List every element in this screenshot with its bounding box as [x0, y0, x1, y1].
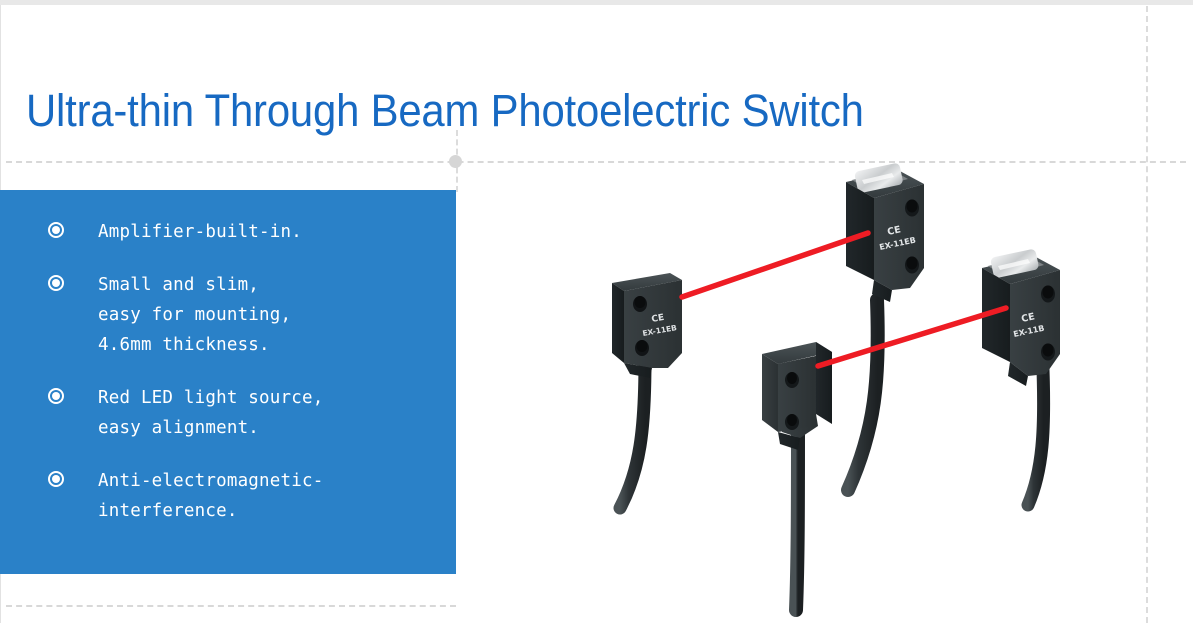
beam-line-upper: [682, 233, 868, 297]
page-title: Ultra-thin Through Beam Photoelectric Sw…: [26, 82, 864, 140]
laser-beams: [682, 233, 1006, 366]
list-item-label: Small and slim, easy for mounting, 4.6mm…: [98, 270, 448, 360]
slide-top-band: [0, 0, 1193, 5]
sensor-receiver-right: CE EX-11B: [982, 248, 1060, 386]
sensor-emitter-left: CE EX-11EB: [612, 273, 682, 378]
list-item-label: Anti-electromagnetic- interference.: [98, 466, 448, 526]
list-item: Anti-electromagnetic- interference.: [48, 466, 448, 526]
list-item: Red LED light source, easy alignment.: [48, 383, 448, 443]
ring-dot-bullet-icon: [48, 471, 64, 487]
list-item: Amplifier-built-in.: [48, 217, 448, 247]
ring-dot-bullet-icon: [48, 388, 64, 404]
product-photo: CE EX-11EB: [500, 140, 1160, 623]
sensor-receiver-top: CE EX-11EB: [846, 162, 924, 302]
list-item-label: Red LED light source, easy alignment.: [98, 383, 448, 443]
ring-dot-bullet-icon: [48, 222, 64, 238]
beam-line-lower: [818, 308, 1006, 366]
list-item: Small and slim, easy for mounting, 4.6mm…: [48, 270, 448, 360]
guide-line-horizontal-bottom: [6, 605, 456, 607]
list-item-label: Amplifier-built-in.: [98, 217, 448, 247]
slide-canvas: Ultra-thin Through Beam Photoelectric Sw…: [0, 0, 1193, 623]
sensor-cables: [620, 300, 1044, 610]
sensor-emitter-center: [762, 342, 832, 450]
ring-dot-bullet-icon: [48, 275, 64, 291]
feature-bullet-list: Amplifier-built-in. Small and slim, easy…: [48, 217, 448, 549]
guide-intersection-node: [449, 155, 462, 168]
feature-panel: Amplifier-built-in. Small and slim, easy…: [0, 190, 456, 574]
